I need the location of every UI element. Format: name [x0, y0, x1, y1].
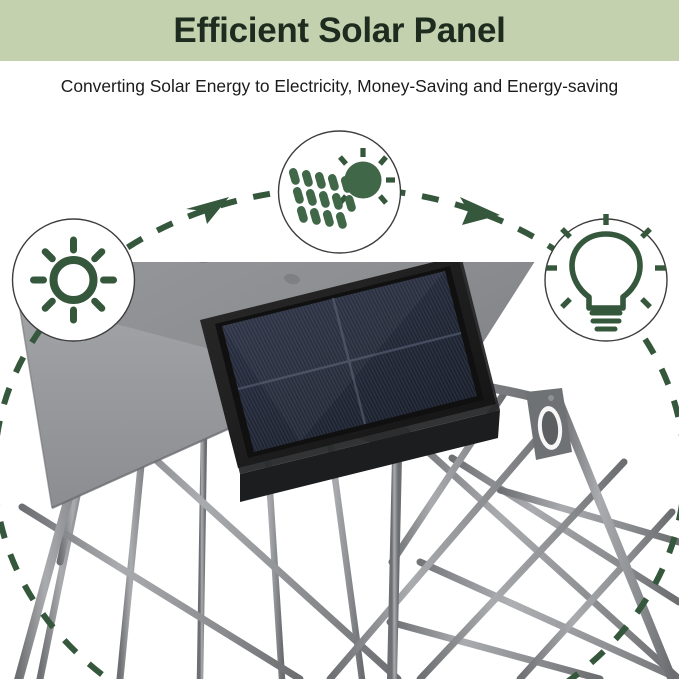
- infographic-canvas: Efficient Solar Panel Converting Solar E…: [0, 0, 679, 679]
- arrow-sun-to-panel: [186, 197, 229, 224]
- solar-panel-sun-icon: [340, 148, 395, 203]
- page-subtitle: Converting Solar Energy to Electricity, …: [0, 76, 679, 97]
- product-group: [18, 262, 679, 679]
- arrow-panel-to-bulb: [460, 197, 500, 225]
- step-solar-panel-circle: [279, 131, 401, 253]
- page-title: Efficient Solar Panel: [0, 0, 679, 61]
- step-solar-panel[interactable]: [279, 131, 401, 253]
- hanger-loop-bracket: [526, 388, 572, 460]
- product-photo: [0, 262, 679, 679]
- solar-panel-grid-icon: [288, 167, 357, 230]
